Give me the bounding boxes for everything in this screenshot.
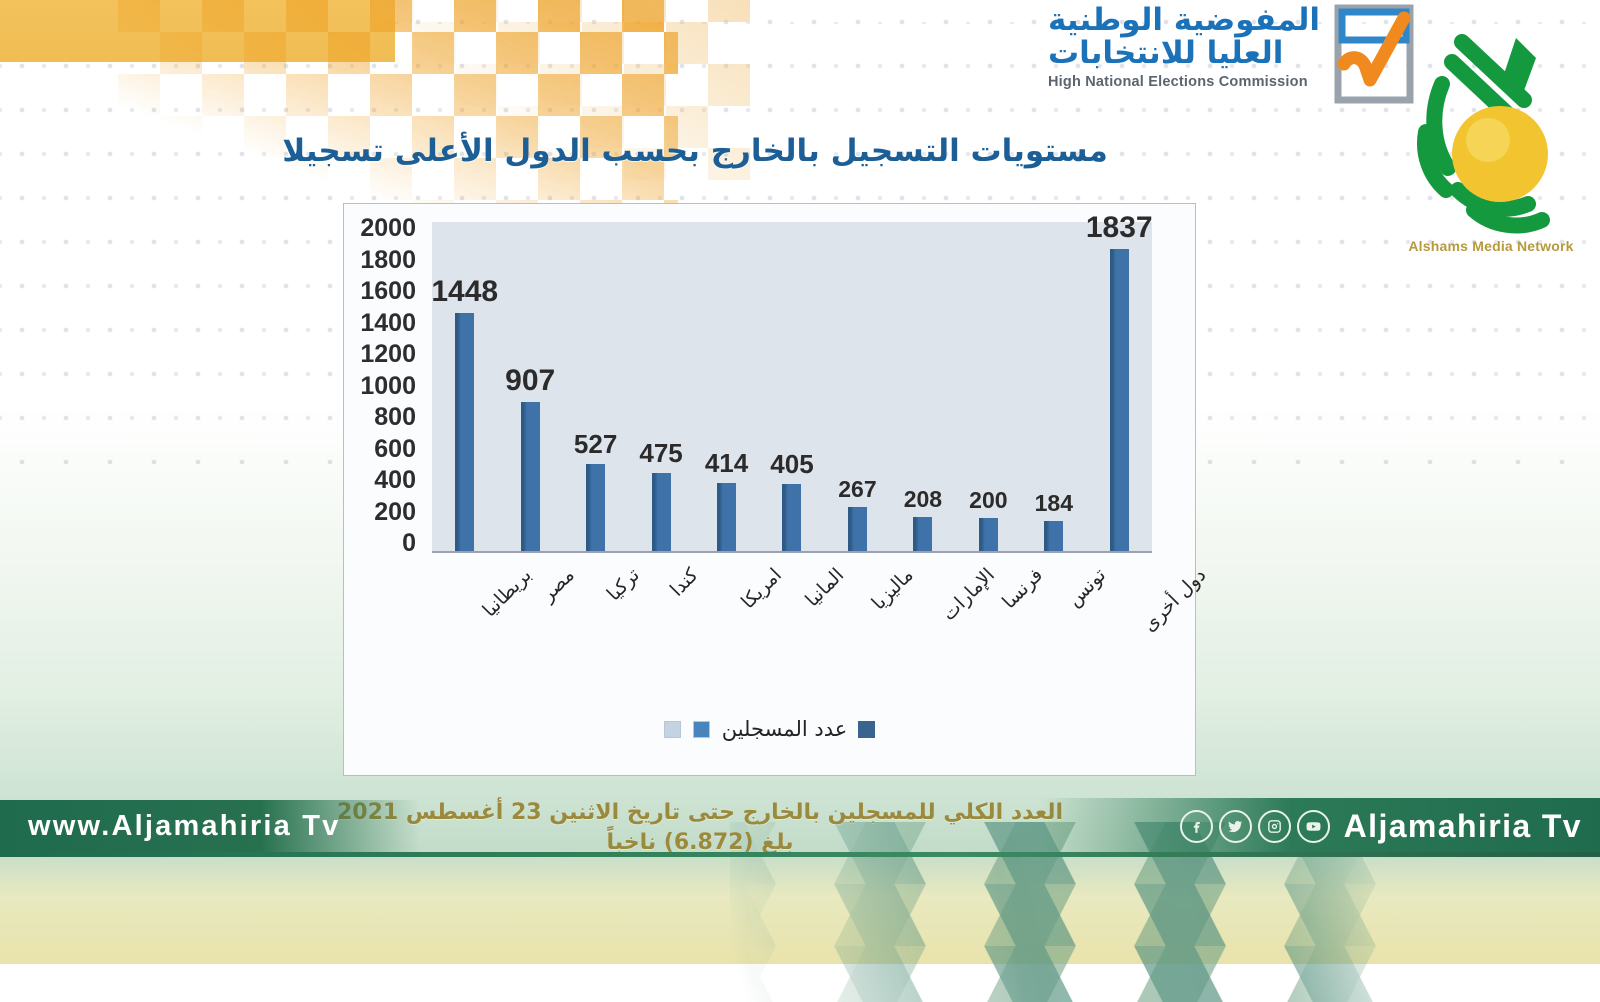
plot-area: 14489075274754144052672082001841837 — [432, 222, 1152, 551]
y-tick-label: 1400 — [360, 311, 416, 336]
legend-label: عدد المسجلين — [722, 717, 848, 741]
bar-value-label: 267 — [838, 476, 876, 503]
brand-bar: Aljamahiria Tv — [1040, 798, 1600, 854]
footer-caption-line-1: العدد الكلي للمسجلين بالخارج حتى تاريخ ا… — [337, 800, 1063, 825]
facebook-icon[interactable] — [1180, 810, 1213, 843]
chart-legend: عدد المسجلين — [344, 717, 1195, 741]
brand-name: Aljamahiria Tv — [1344, 808, 1582, 845]
y-tick-label: 200 — [374, 500, 416, 525]
y-tick-label: 2000 — [360, 216, 416, 241]
bar[interactable] — [979, 518, 998, 551]
bar-value-label: 907 — [505, 364, 555, 398]
hnec-arabic-line-2: العليا للانتخابات — [1048, 37, 1283, 70]
y-tick-label: 800 — [374, 405, 416, 430]
bar-value-label: 527 — [574, 429, 617, 460]
bar-value-label: 1448 — [431, 275, 498, 309]
bar[interactable] — [455, 313, 474, 551]
bar[interactable] — [782, 484, 801, 551]
legend-swatch-1 — [858, 721, 875, 738]
x-axis-labels: بريطانيامصرتركياكنداامريكاالمانياماليزيا… — [432, 556, 1152, 686]
hnec-arabic-line-1: المفوضية الوطنية — [1048, 4, 1320, 37]
bar-value-label: 208 — [904, 486, 942, 513]
x-label-slot: امريكا — [694, 556, 759, 686]
alshams-media-caption: Alshams Media Network — [1396, 238, 1586, 254]
x-label-slot: مصر — [497, 556, 562, 686]
y-tick-label: 400 — [374, 468, 416, 493]
bar-slot: 1837 — [1087, 222, 1152, 551]
bar-value-label: 184 — [1035, 490, 1073, 517]
page-title: مستويات التسجيل بالخارج بحسب الدول الأعل… — [0, 133, 1600, 169]
hnec-logo-text: المفوضية الوطنية العليا للانتخابات High … — [1048, 2, 1320, 90]
bar-slot: 475 — [628, 222, 693, 551]
bar[interactable] — [717, 483, 736, 551]
bar-slot: 414 — [694, 222, 759, 551]
footer-caption: العدد الكلي للمسجلين بالخارج حتى تاريخ ا… — [300, 798, 1100, 859]
bar-slot: 1448 — [432, 222, 497, 551]
x-label-slot: كندا — [628, 556, 693, 686]
x-label-slot: تونس — [1021, 556, 1086, 686]
hnec-logo: المفوضية الوطنية العليا للانتخابات High … — [1048, 2, 1422, 106]
legend-entry-primary: عدد المسجلين — [722, 717, 876, 741]
bar-slot: 267 — [825, 222, 890, 551]
bar[interactable] — [848, 507, 867, 551]
x-label-slot: الإمارات — [890, 556, 955, 686]
y-tick-label: 1600 — [360, 279, 416, 304]
bar-value-label: 475 — [639, 438, 682, 469]
x-label-slot: المانيا — [759, 556, 824, 686]
legend-swatch-2 — [693, 721, 710, 738]
bar[interactable] — [521, 402, 540, 551]
bar-slot: 184 — [1021, 222, 1086, 551]
y-tick-label: 1000 — [360, 374, 416, 399]
legend-swatch-3 — [664, 721, 681, 738]
bar[interactable] — [652, 473, 671, 551]
bar[interactable] — [1110, 249, 1129, 551]
instagram-icon[interactable] — [1258, 810, 1291, 843]
chart-container: 2000180016001400120010008006004002000 14… — [343, 203, 1196, 776]
bar-value-label: 200 — [969, 487, 1007, 514]
x-label-slot: بريطانيا — [432, 556, 497, 686]
y-tick-label: 0 — [402, 531, 416, 556]
y-axis-ticks: 2000180016001400120010008006004002000 — [352, 216, 416, 556]
twitter-icon[interactable] — [1219, 810, 1252, 843]
x-label-slot: دول أخرى — [1087, 556, 1152, 686]
bar-slot: 208 — [890, 222, 955, 551]
bar[interactable] — [913, 517, 932, 551]
x-axis-line — [432, 551, 1152, 553]
bar-value-label: 1837 — [1086, 211, 1153, 245]
bar-slot: 527 — [563, 222, 628, 551]
hnec-english-name: High National Elections Commission — [1048, 74, 1308, 90]
social-links — [1180, 810, 1330, 843]
y-tick-label: 1800 — [360, 248, 416, 273]
x-label-slot: ماليزيا — [825, 556, 890, 686]
bar[interactable] — [1044, 521, 1063, 551]
x-label-slot: فرنسا — [956, 556, 1021, 686]
x-label-slot: تركيا — [563, 556, 628, 686]
bar-slot: 405 — [759, 222, 824, 551]
y-tick-label: 600 — [374, 437, 416, 462]
youtube-icon[interactable] — [1297, 810, 1330, 843]
website-bar: www.Aljamahiria Tv — [0, 800, 420, 852]
bar-series: 14489075274754144052672082001841837 — [432, 222, 1152, 551]
bar-slot: 200 — [956, 222, 1021, 551]
bar[interactable] — [586, 464, 605, 551]
bar-value-label: 405 — [770, 449, 813, 480]
bottom-accent-strip — [0, 852, 1600, 857]
bar-value-label: 414 — [705, 448, 748, 479]
y-tick-label: 1200 — [360, 342, 416, 367]
website-url[interactable]: www.Aljamahiria Tv — [0, 810, 341, 843]
bar-slot: 907 — [497, 222, 562, 551]
